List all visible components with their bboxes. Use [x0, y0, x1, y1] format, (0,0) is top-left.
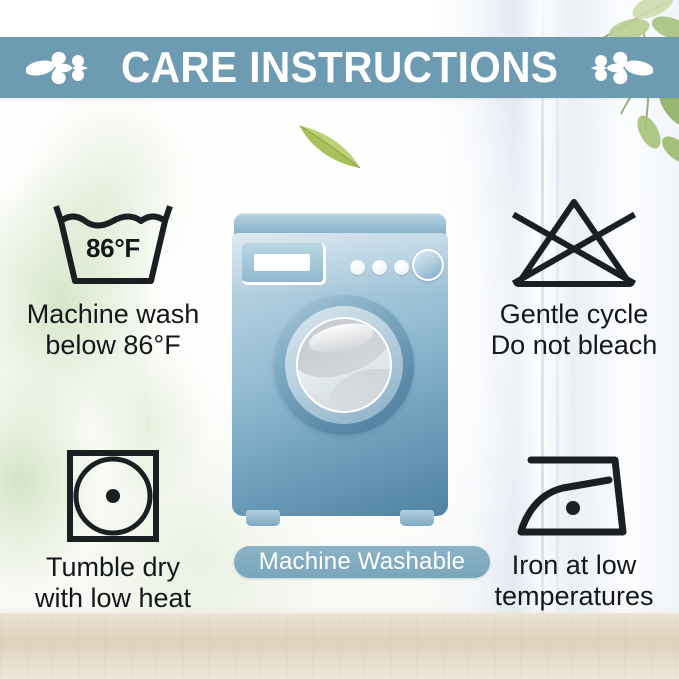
page-title: CARE INSTRUCTIONS [121, 46, 558, 90]
care-instructions-infographic: CARE INSTRUCTIONS [0, 0, 679, 679]
indicator-light-2 [372, 260, 387, 275]
tumble-dry-one-dot-icon [65, 448, 161, 544]
care-symbol-caption: Gentle cycle Do not bleach [491, 299, 658, 361]
care-symbol-iron: Iron at low temperatures [474, 450, 674, 612]
indicator-light-3 [394, 260, 409, 275]
caption-line-1: Iron at low [494, 550, 653, 581]
care-symbol-do-not-bleach: Gentle cycle Do not bleach [474, 196, 674, 361]
caption-line-1: Machine wash [27, 299, 200, 330]
wash-temperature-value: 86°F [53, 233, 173, 264]
detergent-drawer [242, 243, 326, 285]
washing-machine-body [232, 233, 448, 516]
door-ring [285, 306, 403, 424]
care-symbol-machine-wash: 86°F Machine wash below 86°F [13, 200, 213, 361]
caption-line-2: below 86°F [27, 330, 200, 361]
care-symbol-caption: Machine wash below 86°F [27, 299, 200, 361]
indicator-light-1 [350, 260, 365, 275]
fleur-de-lis-icon-right [589, 46, 653, 90]
machine-washable-badge: Machine Washable [234, 546, 490, 578]
caption-line-1: Gentle cycle [491, 299, 658, 330]
triangle-crossed-out-icon [504, 196, 644, 292]
fleur-de-lis-icon-left [26, 46, 90, 90]
badge-label: Machine Washable [259, 550, 465, 574]
caption-line-2: temperatures [494, 581, 653, 612]
program-knob [412, 249, 444, 281]
door-glass [296, 317, 392, 413]
care-symbol-tumble-dry: Tumble dry with low heat [13, 448, 213, 614]
washing-machine-illustration [232, 213, 448, 535]
washing-machine-foot-left [246, 510, 280, 526]
washing-machine-door [274, 295, 414, 435]
care-symbol-caption: Iron at low temperatures [494, 550, 653, 612]
washing-machine-foot-right [400, 510, 434, 526]
header-banner: CARE INSTRUCTIONS [0, 37, 679, 98]
iron-one-dot-icon [511, 450, 637, 542]
caption-line-2: with low heat [35, 583, 191, 614]
detergent-drawer-slot [254, 254, 310, 271]
wash-tub-icon: 86°F [53, 200, 173, 292]
background-wooden-table [0, 613, 679, 679]
floating-leaf-icon [296, 120, 366, 172]
caption-line-2: Do not bleach [491, 330, 658, 361]
caption-line-1: Tumble dry [35, 552, 191, 583]
care-symbol-caption: Tumble dry with low heat [35, 552, 191, 614]
